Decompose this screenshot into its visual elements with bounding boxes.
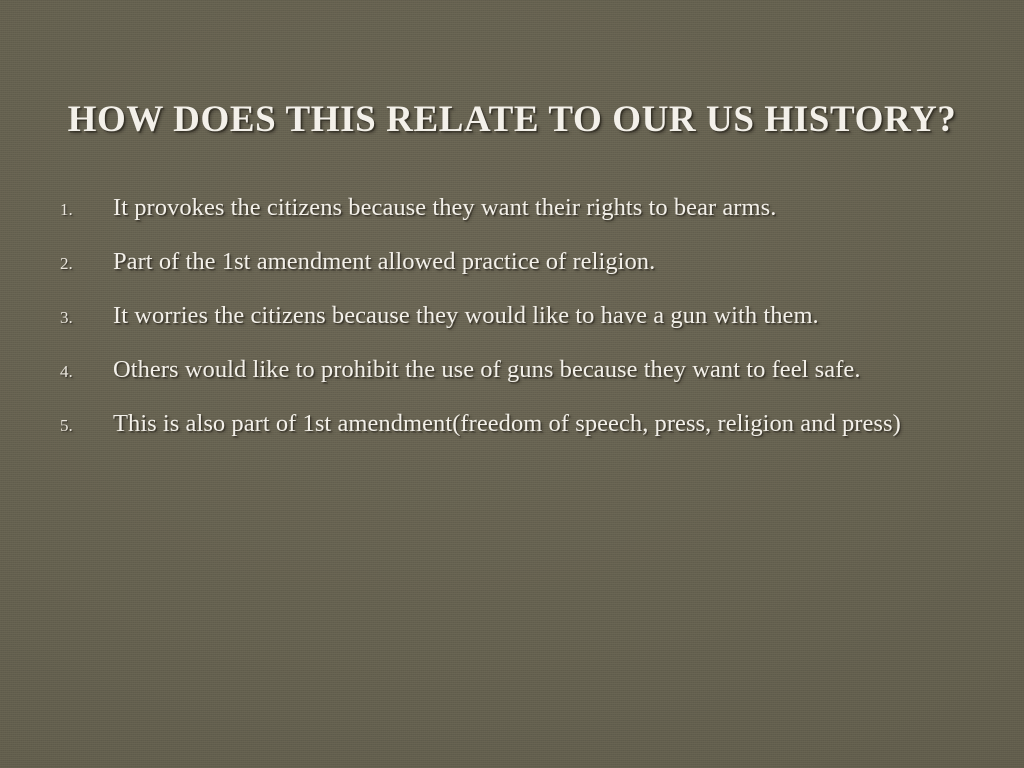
list-item-text: It worries the citizens because they wou…: [113, 301, 819, 331]
list-item-number: 2.: [60, 249, 113, 279]
presentation-slide: How does this relate to our US history? …: [0, 0, 1024, 768]
list-item: 3. It worries the citizens because they …: [60, 301, 1000, 355]
list-item-text: Part of the 1st amendment allowed practi…: [113, 247, 655, 277]
page-title: How does this relate to our US history?: [68, 97, 957, 143]
list-item-number: 4.: [60, 357, 113, 387]
list-item: 1. It provokes the citizens because they…: [60, 193, 1000, 247]
list-item: 4. Others would like to prohibit the use…: [60, 355, 1000, 409]
list-item-number: 1.: [60, 195, 113, 225]
list-item-number: 3.: [60, 303, 113, 333]
slide-title-block: How does this relate to our US history?: [0, 72, 1024, 168]
list-item-text: Others would like to prohibit the use of…: [113, 355, 861, 385]
list-item: 2. Part of the 1st amendment allowed pra…: [60, 247, 1000, 301]
list-item: 5. This is also part of 1st amendment(fr…: [60, 409, 1000, 463]
numbered-list: 1. It provokes the citizens because they…: [60, 193, 1000, 463]
list-item-text: It provokes the citizens because they wa…: [113, 193, 776, 223]
list-item-text: This is also part of 1st amendment(freed…: [113, 409, 901, 439]
list-item-number: 5.: [60, 411, 113, 441]
